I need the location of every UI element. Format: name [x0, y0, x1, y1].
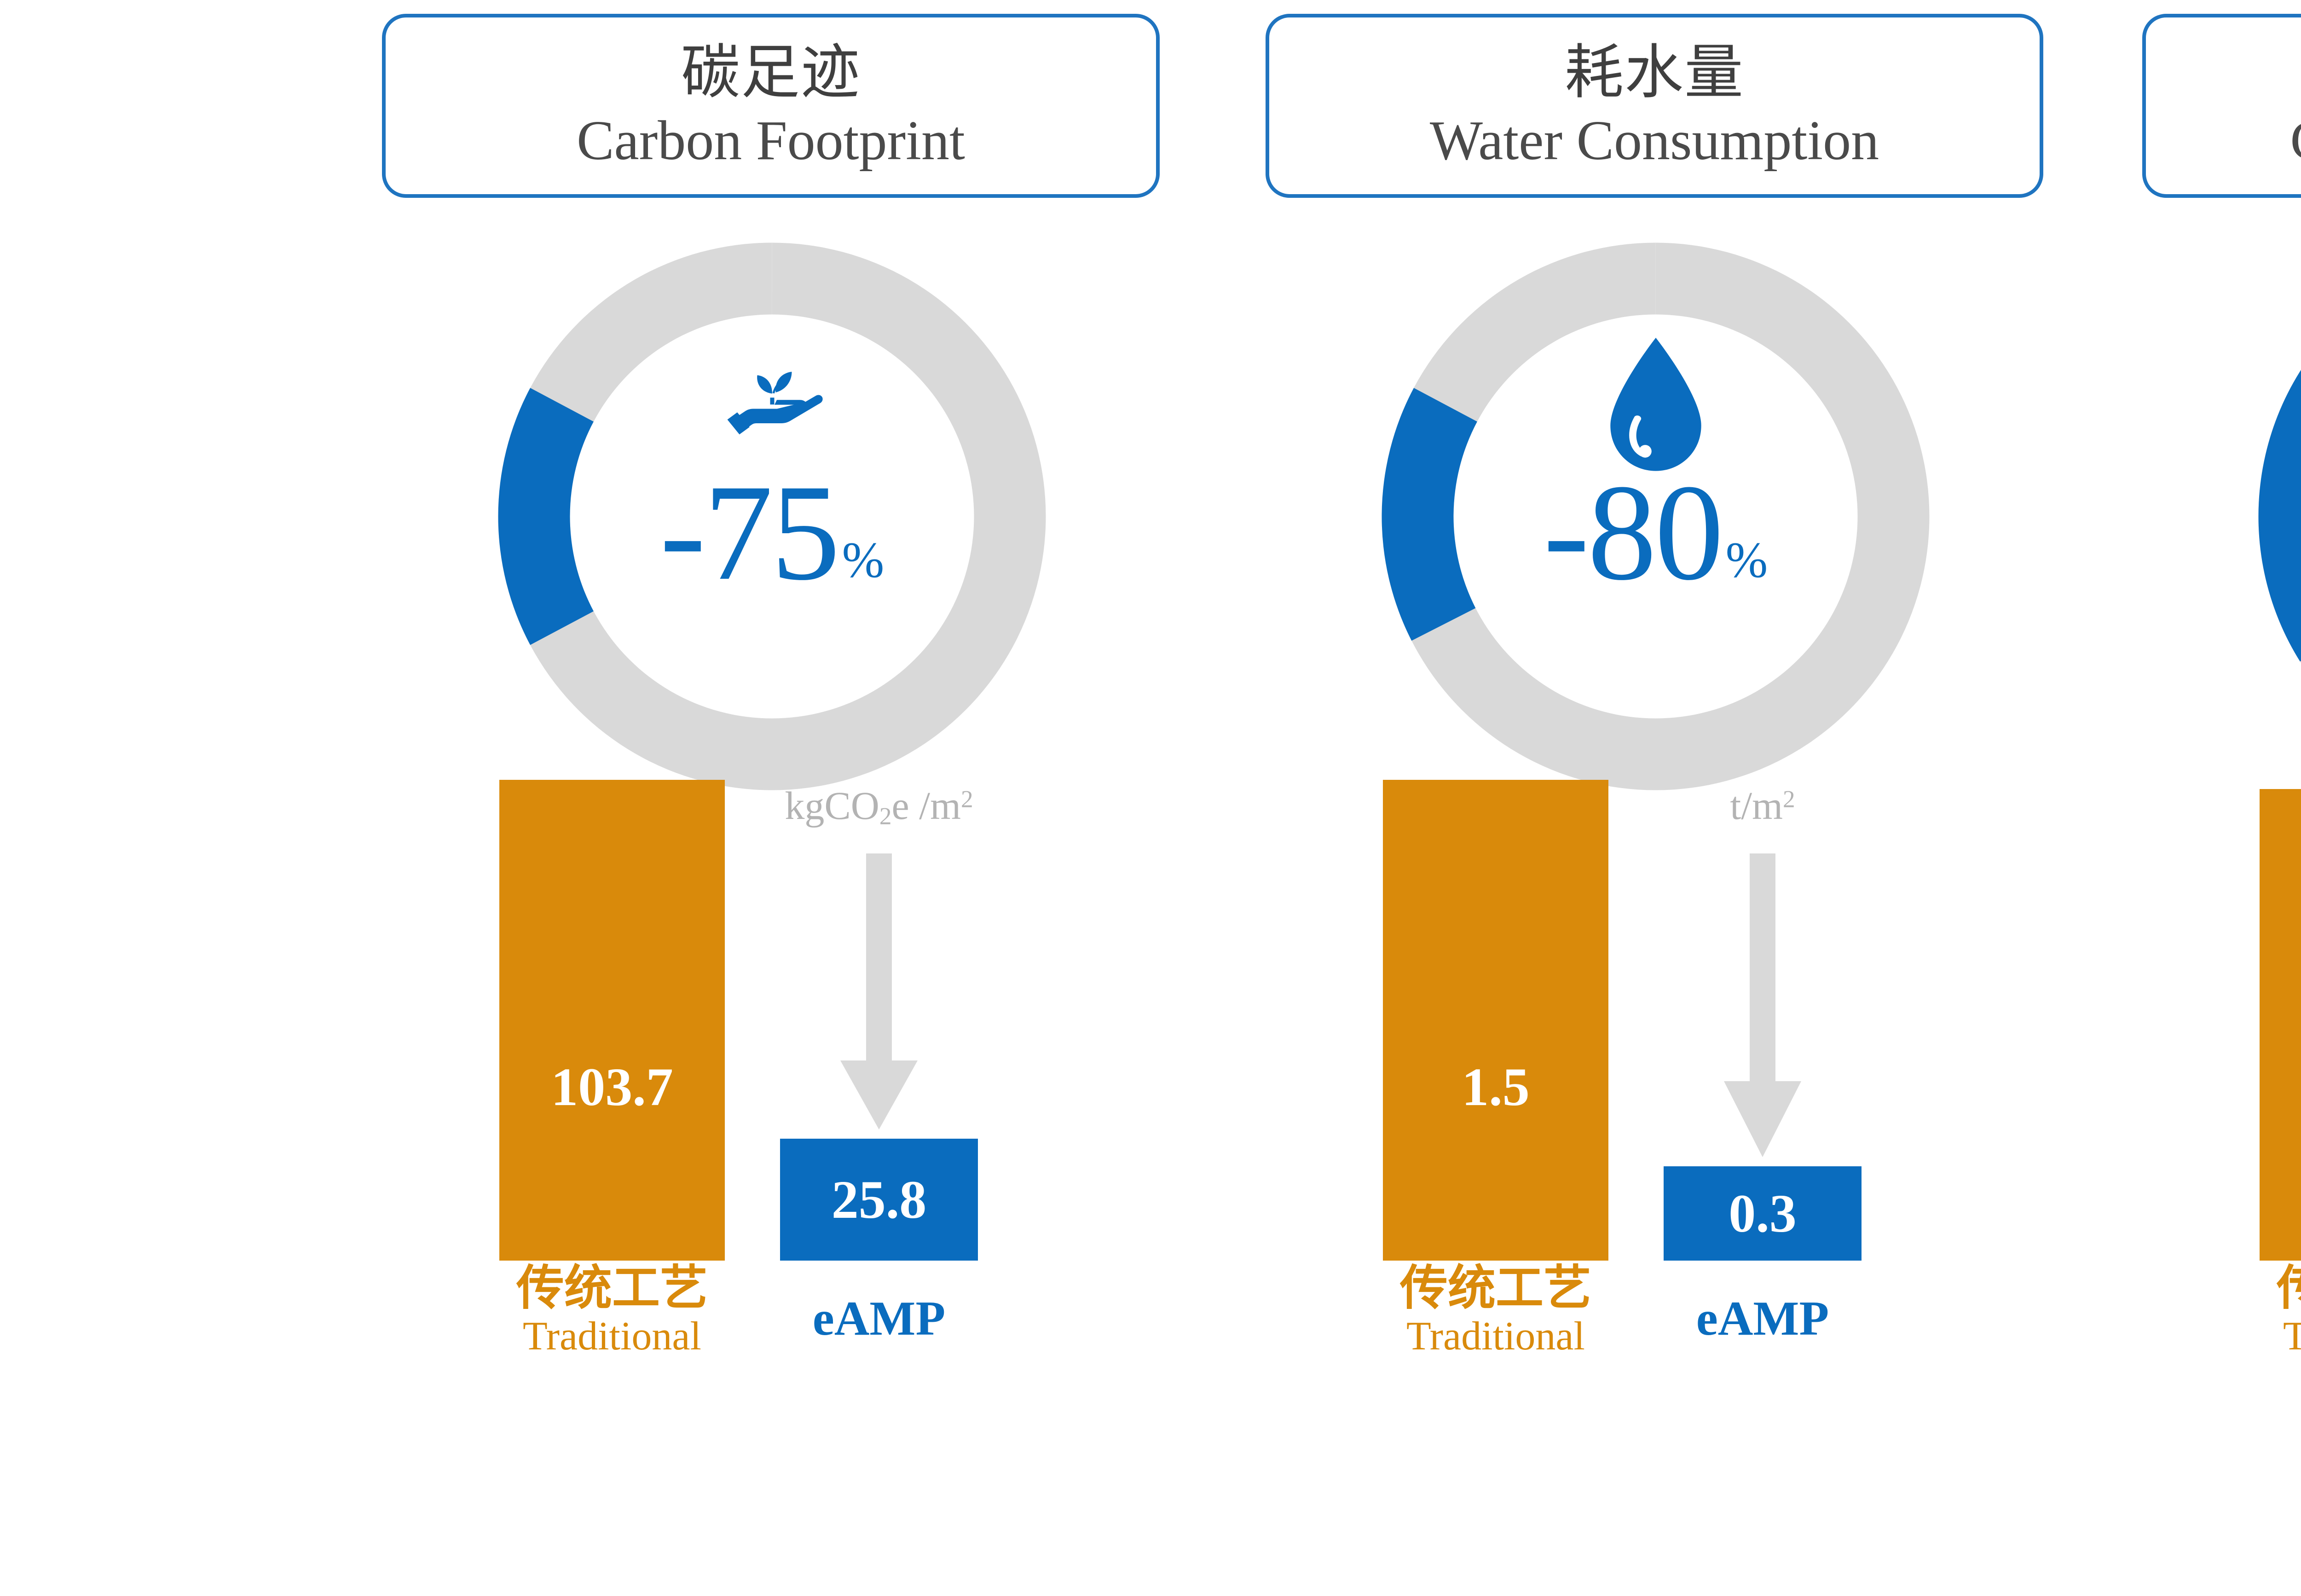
axis-label-eamp-text: eAMP: [775, 1294, 983, 1343]
unit-superscript: 2: [961, 785, 973, 812]
metric-panel-1: 碳足迹 Carbon Footprint -75 % kgCO2e /m2: [331, 0, 1206, 1596]
reduction-value: -80: [1544, 476, 1722, 589]
bar-plot-area: kgCO2e /m2 103.7 25.8: [492, 773, 1054, 1261]
bar-traditional: 161: [2260, 789, 2301, 1261]
axis-label-traditional-en: Traditional: [499, 1316, 725, 1357]
arrow-shape: [840, 853, 918, 1129]
reduction-donut-chart-2: -80 %: [1381, 242, 1931, 791]
axis-label-eamp: eAMP: [1659, 1294, 1866, 1343]
unit-label: kgCO2e /m2: [780, 786, 978, 829]
axis-label-traditional: 传统工艺 Traditional: [2260, 1264, 2301, 1357]
comparison-bar-chart-1: kgCO2e /m2 103.7 25.8 传统工艺 Traditional e…: [492, 773, 1054, 1380]
metric-panel-3: 铜损耗 Copper Consumption -70 % g/m2: [2092, 0, 2301, 1596]
hand-holding-plant-icon: [715, 350, 830, 465]
arrow-shape: [1724, 853, 1801, 1157]
comparison-bar-chart-2: t/m2 1.5 0.3 传统工艺 Traditional eAMP: [1376, 773, 1937, 1380]
axis-label-traditional-en: Traditional: [2260, 1316, 2301, 1357]
bar-eamp: 0.3: [1664, 1166, 1862, 1261]
bar-plot-area: g/m2 161 55: [2253, 773, 2301, 1261]
metrics-panel-group: 碳足迹 Carbon Footprint -75 % kgCO2e /m2: [0, 0, 2301, 1596]
bar-value-traditional: 103.7: [551, 1060, 673, 1114]
donut-center-content: -75 %: [497, 242, 1047, 791]
reduction-percentage: -75 %: [660, 476, 885, 589]
axis-label-traditional-cn: 传统工艺: [2260, 1264, 2301, 1313]
reduction-percentage: -80 %: [1544, 476, 1768, 589]
donut-center-content: -80 %: [1381, 242, 1931, 791]
bar-plot-area: t/m2 1.5 0.3: [1376, 773, 1937, 1261]
metric-panel-2: 耗水量 Water Consumption -80 % t/m2: [1215, 0, 2089, 1596]
percent-sign: %: [1726, 535, 1768, 589]
unit-superscript: 2: [1783, 785, 1795, 812]
bar-traditional: 1.5: [1383, 780, 1608, 1261]
reduction-value: -75: [660, 476, 838, 589]
axis-label-traditional-cn: 传统工艺: [1383, 1264, 1608, 1313]
axis-label-eamp-text: eAMP: [1659, 1294, 1866, 1343]
panel-title-cn: 碳足迹: [681, 38, 861, 108]
bar-value-traditional: 1.5: [1462, 1060, 1530, 1114]
bar-axis-labels: 传统工艺 Traditional eAMP: [1376, 1264, 1937, 1379]
reduction-arrow-icon: [780, 853, 978, 1129]
comparison-bar-chart-3: g/m2 161 55 传统工艺 Traditional eAMP: [2253, 773, 2301, 1380]
bar-axis-labels: 传统工艺 Traditional eAMP: [2253, 1264, 2301, 1379]
bar-value-eamp: 0.3: [1729, 1187, 1797, 1241]
donut-center-content: -70 %: [2257, 242, 2301, 791]
bar-axis-labels: 传统工艺 Traditional eAMP: [492, 1264, 1054, 1379]
bar-eamp: 25.8: [780, 1139, 978, 1261]
reduction-donut-chart-3: -70 %: [2257, 242, 2301, 791]
panel-title-cn: 耗水量: [1565, 38, 1744, 108]
axis-label-traditional-en: Traditional: [1383, 1316, 1608, 1357]
axis-label-traditional: 传统工艺 Traditional: [1383, 1264, 1608, 1357]
panel-title-en: Copper Consumption: [2290, 108, 2301, 174]
axis-label-eamp: eAMP: [775, 1294, 983, 1343]
unit-subscript: 2: [879, 802, 892, 830]
reduction-arrow-icon: [1664, 853, 1862, 1157]
axis-label-traditional-cn: 传统工艺: [499, 1264, 725, 1313]
axis-label-traditional: 传统工艺 Traditional: [499, 1264, 725, 1357]
unit-label: t/m2: [1664, 786, 1862, 825]
water-drop-icon: [1598, 350, 1713, 465]
panel-header-card-3: 铜损耗 Copper Consumption: [2142, 14, 2301, 198]
reduction-donut-chart-1: -75 %: [497, 242, 1047, 791]
bar-value-eamp: 25.8: [832, 1173, 927, 1227]
percent-sign: %: [842, 535, 885, 589]
bar-traditional: 103.7: [499, 780, 725, 1261]
